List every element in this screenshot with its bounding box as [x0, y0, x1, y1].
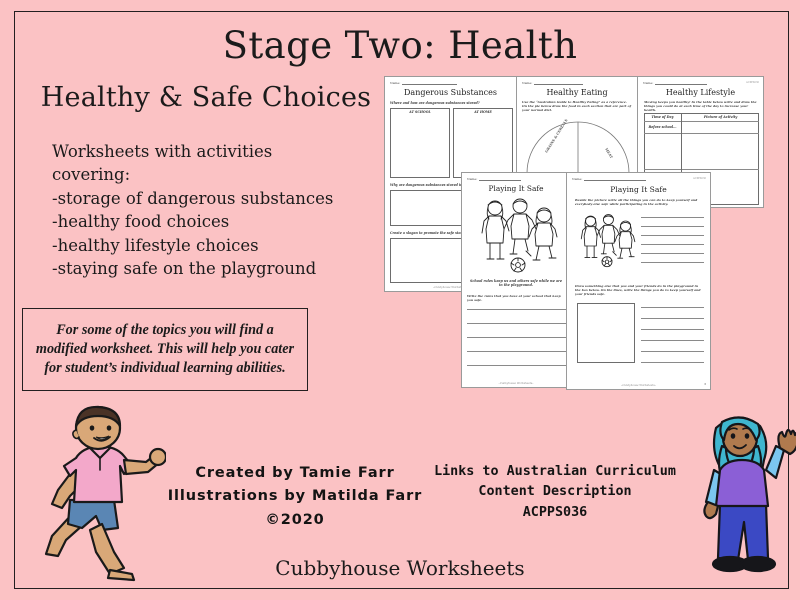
table-row-rule — [644, 169, 759, 170]
writing-line — [467, 323, 567, 324]
worksheet-instruction: Where and how are dangerous substances s… — [390, 101, 511, 105]
curriculum-line-2: Content Description — [410, 482, 700, 502]
writing-line — [641, 329, 704, 330]
feature-list-line: -healthy food choices — [52, 210, 382, 233]
children-playing-soccer-illustration — [476, 197, 560, 275]
feature-list: Worksheets with activities covering: -st… — [52, 140, 382, 281]
worksheet-instruction: Beside the picture write all the things … — [575, 199, 702, 207]
modified-worksheet-note-text: For some of the topics you will find a m… — [23, 321, 307, 378]
running-boy-illustration — [36, 404, 166, 590]
credits-block: Created by Tamie Farr Illustrations by M… — [150, 462, 440, 532]
page-title: Stage Two: Health — [0, 24, 800, 67]
writing-line — [641, 226, 704, 227]
worksheet-name-field: Name: — [572, 177, 682, 181]
worksheet-caption: School rules keep us and others safe whi… — [468, 279, 564, 287]
worksheet-name-field: Name: — [390, 81, 488, 85]
worksheet-title: Healthy Lifestyle — [638, 88, 763, 97]
answer-box — [390, 108, 450, 178]
credit-copyright: ©2020 — [150, 509, 440, 532]
curriculum-block: Links to Australian Curriculum Content D… — [410, 462, 700, 523]
feature-list-line: -healthy lifestyle choices — [52, 234, 382, 257]
worksheet-instruction: Moving keeps you healthy! In the table b… — [644, 101, 757, 113]
worksheet-title: Playing It Safe — [462, 184, 570, 193]
feature-list-line: -storage of dangerous substances — [52, 187, 382, 210]
writing-line — [467, 337, 567, 338]
worksheet-instruction: Use the “Australian Guide to Healthy Eat… — [522, 101, 632, 113]
worksheet-footer: –Cubbyhouse Worksheets– — [567, 384, 710, 387]
writing-line — [641, 362, 704, 363]
writing-line — [641, 253, 704, 254]
modified-worksheet-note: For some of the topics you will find a m… — [22, 308, 308, 391]
svg-text:GRAINS & CEREALS: GRAINS & CEREALS — [544, 118, 568, 154]
worksheet-corner-code: ACPPS036 — [746, 81, 759, 84]
writing-line — [641, 235, 704, 236]
feature-list-line: -staying safe on the playground — [52, 257, 382, 280]
credit-author: Created by Tamie Farr — [150, 462, 440, 485]
curriculum-code: ACPPS036 — [410, 503, 700, 523]
curriculum-line-1: Links to Australian Curriculum — [410, 462, 700, 482]
writing-line — [641, 244, 704, 245]
writing-line — [641, 307, 704, 308]
answer-box-label: AT HOME — [453, 110, 513, 114]
worksheet-name-field: Name: — [467, 177, 542, 181]
page-subtitle: Healthy & Safe Choices — [26, 82, 386, 113]
writing-line — [641, 262, 704, 263]
table-header: Picture of Activity — [682, 115, 759, 119]
answer-box — [453, 108, 513, 178]
worksheet-title: Dangerous Substances — [385, 88, 516, 97]
table-header-rule — [644, 121, 759, 122]
writing-line — [641, 217, 704, 218]
worksheet-title: Healthy Eating — [517, 88, 637, 97]
writing-line — [641, 351, 704, 352]
worksheet-footer: –Cubbyhouse Worksheets– — [462, 382, 570, 385]
credit-illustrator: Illustrations by Matilda Farr — [150, 485, 440, 508]
worksheet-title: Playing It Safe — [567, 185, 710, 194]
worksheet-name-field: Name: — [643, 81, 735, 85]
feature-list-line: Worksheets with activities — [52, 140, 382, 163]
writing-line — [467, 309, 567, 310]
drawing-box — [577, 303, 635, 363]
worksheet-page-number: 3 — [704, 382, 706, 386]
worksheet-thumbnail-playing-it-safe: Name: Playing It Safe — [461, 172, 571, 388]
cover-page: Stage Two: Health Healthy & Safe Choices… — [0, 0, 800, 600]
worksheet-corner-code: ACPPS036 — [693, 177, 706, 180]
svg-text:MEAT: MEAT — [604, 147, 614, 159]
waving-girl-illustration — [692, 412, 796, 588]
worksheet-instruction: Draw something else that you and your fr… — [575, 285, 702, 297]
writing-line — [467, 365, 567, 366]
table-row-label: Before school... — [644, 125, 681, 129]
answer-box-label: AT SCHOOL — [390, 110, 450, 114]
worksheet-name-field: Name: — [522, 81, 609, 85]
writing-line — [641, 340, 704, 341]
children-playing-soccer-illustration — [577, 213, 637, 269]
feature-list-line: covering: — [52, 163, 382, 186]
worksheet-thumbnail-playing-it-safe-modified: Name: ACPPS036 Playing It Safe Beside th… — [566, 172, 711, 390]
table-header: Time of Day — [644, 115, 681, 119]
table-row-rule — [644, 133, 759, 134]
writing-line — [467, 351, 567, 352]
worksheet-instruction: Write the rules that you have at your sc… — [467, 295, 565, 303]
writing-line — [641, 318, 704, 319]
